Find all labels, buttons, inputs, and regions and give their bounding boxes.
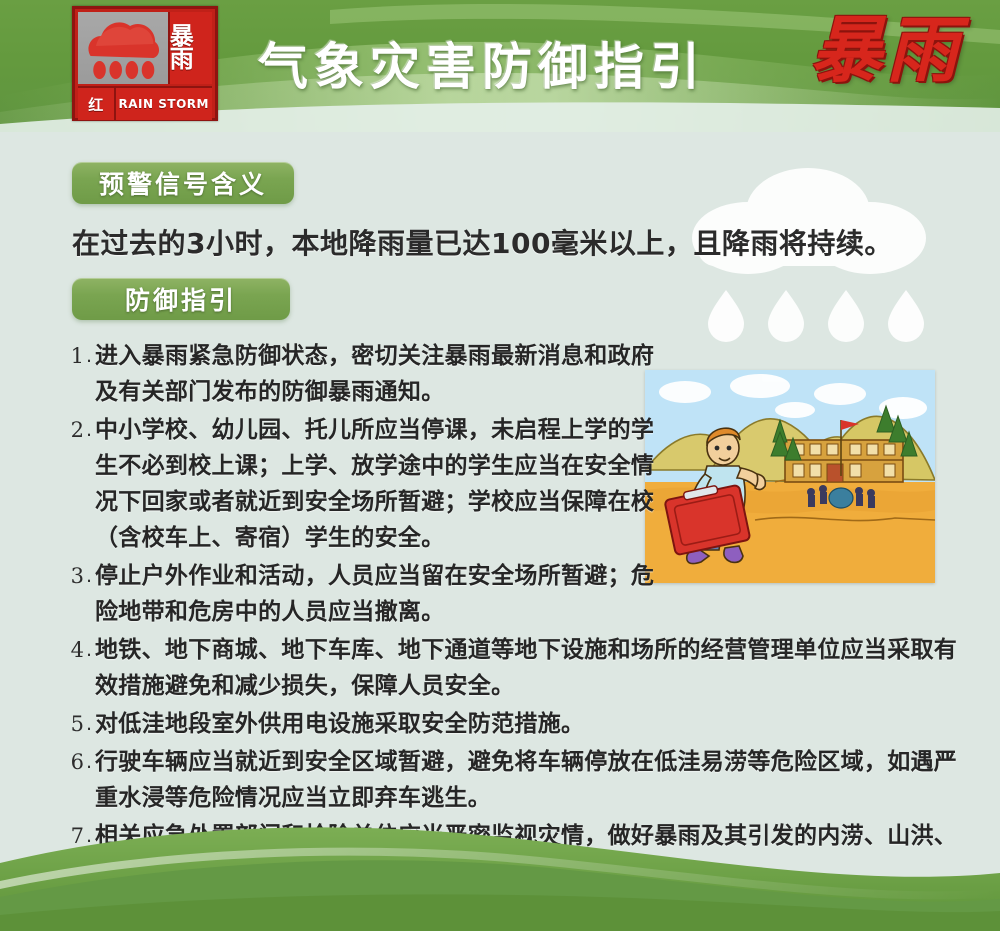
footer-wave-decoration xyxy=(0,811,1000,931)
section-pill-guide: 防御指引 xyxy=(72,278,290,320)
list-item: 1 . 进入暴雨紧急防御状态，密切关注暴雨最新消息和政府及有关部门发布的防御暴雨… xyxy=(60,338,960,410)
list-item-dot: . xyxy=(86,558,95,594)
badge-level-cn: 红 xyxy=(78,88,116,120)
list-item: 3 . 停止户外作业和活动，人员应当留在安全场所暂避；危险地带和危房中的人员应当… xyxy=(60,558,960,630)
list-item-dot: . xyxy=(86,632,95,668)
list-item: 6 . 行驶车辆应当就近到安全区域暂避，避免将车辆停放在低洼易涝等危险区域，如遇… xyxy=(60,744,960,816)
list-item-number: 2 xyxy=(60,412,86,448)
section-pill-meaning: 预警信号含义 xyxy=(72,162,294,204)
list-item-number: 3 xyxy=(60,558,86,594)
list-item-dot: . xyxy=(86,412,95,448)
list-item-text: 行驶车辆应当就近到安全区域暂避，避免将车辆停放在低洼易涝等危险区域，如遇严重水浸… xyxy=(95,744,960,816)
list-item-dot: . xyxy=(86,338,95,374)
list-item-text: 中小学校、幼儿园、托儿所应当停课，未启程上学的学生不必到校上课；上学、放学途中的… xyxy=(95,412,655,556)
list-item-dot: . xyxy=(86,706,95,742)
page-title: 气象灾害防御指引 xyxy=(258,42,738,92)
rainstorm-warning-badge: 暴雨 红 RAIN STORM xyxy=(72,6,218,121)
list-item-number: 6 xyxy=(60,744,86,780)
page-header: 暴雨 红 RAIN STORM 气象灾害防御指引 暴雨 xyxy=(0,0,1000,132)
list-item: 2 . 中小学校、幼儿园、托儿所应当停课，未启程上学的学生不必到校上课；上学、放… xyxy=(60,412,960,556)
list-item-text: 对低洼地段室外供用电设施采取安全防范措施。 xyxy=(95,706,960,742)
list-item: 4 . 地铁、地下商城、地下车库、地下通道等地下设施和场所的经营管理单位应当采取… xyxy=(60,632,960,704)
list-item-number: 5 xyxy=(60,706,86,742)
rainstorm-cloud-icon xyxy=(78,12,168,84)
badge-level-en: RAIN STORM xyxy=(116,88,212,120)
content-sheet: 预警信号含义 在过去的3小时，本地降雨量已达100毫米以上，且降雨将持续。 防御… xyxy=(0,132,1000,931)
list-item-text: 进入暴雨紧急防御状态，密切关注暴雨最新消息和政府及有关部门发布的防御暴雨通知。 xyxy=(95,338,655,410)
list-item-number: 4 xyxy=(60,632,86,668)
alert-type-label: 暴雨 xyxy=(810,14,962,86)
list-item-text: 停止户外作业和活动，人员应当留在安全场所暂避；危险地带和危房中的人员应当撤离。 xyxy=(95,558,655,630)
badge-bottom-row: 红 RAIN STORM xyxy=(78,86,212,120)
badge-top-row: 暴雨 xyxy=(78,12,212,84)
list-item-number: 1 xyxy=(60,338,86,374)
list-item-text: 地铁、地下商城、地下车库、地下通道等地下设施和场所的经营管理单位应当采取有效措施… xyxy=(95,632,960,704)
guideline-list: 1 . 进入暴雨紧急防御状态，密切关注暴雨最新消息和政府及有关部门发布的防御暴雨… xyxy=(60,338,960,892)
list-item-dot: . xyxy=(86,744,95,780)
badge-vertical-text: 暴雨 xyxy=(168,12,212,84)
warning-meaning-text: 在过去的3小时，本地降雨量已达100毫米以上，且降雨将持续。 xyxy=(72,222,952,262)
list-item: 5 . 对低洼地段室外供用电设施采取安全防范措施。 xyxy=(60,706,960,742)
